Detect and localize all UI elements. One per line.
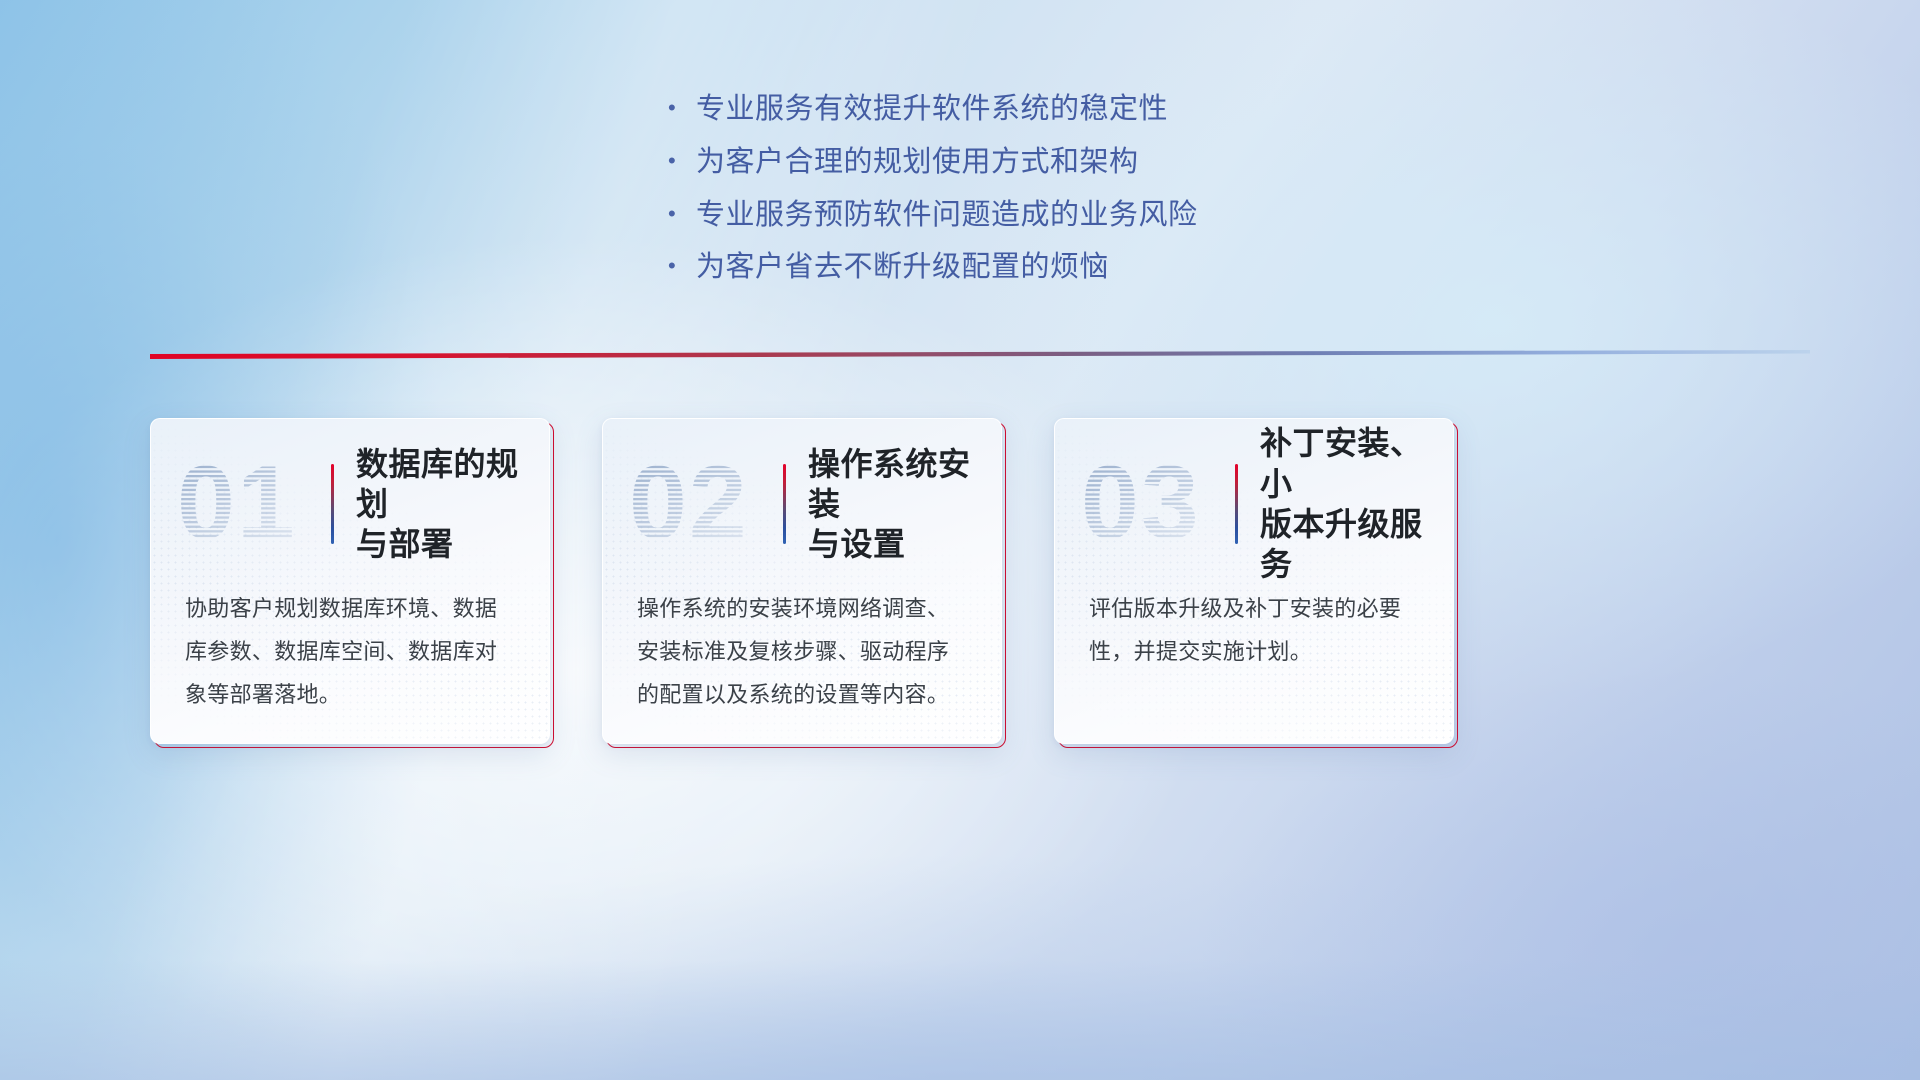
card-title-rule — [783, 464, 786, 544]
card-surface: 02 操作系统安装 与设置 操作系统的安装环境网络调查、安装标准及复核步骤、驱动… — [602, 418, 1002, 744]
bullet-dot-icon: • — [668, 203, 696, 225]
bullet-text: 专业服务预防软件问题造成的业务风险 — [696, 198, 1198, 233]
svg-text:03: 03 — [1081, 452, 1201, 556]
card-title-rule — [331, 464, 334, 544]
card-number-striped-icon: 03 — [1081, 452, 1231, 556]
svg-text:01: 01 — [177, 452, 297, 556]
bullet-text: 专业服务有效提升软件系统的稳定性 — [696, 92, 1168, 127]
card-body-text: 操作系统的安装环境网络调查、安装标准及复核步骤、驱动程序的配置以及系统的设置等内… — [637, 587, 971, 716]
card-surface: 01 数据库的规划 与部署 协助客户规划数据库环境、数据库参数、数据库空间、数据… — [150, 418, 550, 744]
card-header: 02 操作系统安装 与设置 — [603, 449, 1001, 559]
card-title-rule — [1235, 464, 1238, 544]
list-item: • 为客户省去不断升级配置的烦恼 — [668, 250, 1198, 285]
svg-text:02: 02 — [629, 452, 749, 556]
card-header: 01 数据库的规划 与部署 — [151, 449, 549, 559]
list-item: • 专业服务预防软件问题造成的业务风险 — [668, 198, 1198, 233]
list-item: • 为客户合理的规划使用方式和架构 — [668, 145, 1198, 180]
card-title: 操作系统安装 与设置 — [808, 444, 1001, 565]
bullet-text: 为客户合理的规划使用方式和架构 — [696, 145, 1139, 180]
bullet-dot-icon: • — [668, 97, 696, 119]
card-header: 03 补丁安装、小 版本升级服务 — [1055, 449, 1453, 559]
slide-stage: • 专业服务有效提升软件系统的稳定性 • 为客户合理的规划使用方式和架构 • 专… — [0, 0, 1920, 1080]
card-title: 数据库的规划 与部署 — [356, 444, 549, 565]
bullet-dot-icon: • — [668, 255, 696, 277]
card-number-striped-icon: 01 — [177, 452, 327, 556]
service-card[interactable]: 03 补丁安装、小 版本升级服务 评估版本升级及补丁安装的必要性，并提交实施计划… — [1054, 418, 1454, 744]
service-card-row: 01 数据库的规划 与部署 协助客户规划数据库环境、数据库参数、数据库空间、数据… — [150, 418, 1454, 744]
card-surface: 03 补丁安装、小 版本升级服务 评估版本升级及补丁安装的必要性，并提交实施计划… — [1054, 418, 1454, 744]
section-divider — [150, 340, 1810, 366]
card-number-striped-icon: 02 — [629, 452, 779, 556]
card-title: 补丁安装、小 版本升级服务 — [1260, 423, 1453, 584]
list-item: • 专业服务有效提升软件系统的稳定性 — [668, 92, 1198, 127]
benefits-bullet-list: • 专业服务有效提升软件系统的稳定性 • 为客户合理的规划使用方式和架构 • 专… — [668, 92, 1198, 285]
bullet-text: 为客户省去不断升级配置的烦恼 — [696, 250, 1109, 285]
service-card[interactable]: 02 操作系统安装 与设置 操作系统的安装环境网络调查、安装标准及复核步骤、驱动… — [602, 418, 1002, 744]
card-body-text: 评估版本升级及补丁安装的必要性，并提交实施计划。 — [1089, 587, 1423, 673]
card-body-text: 协助客户规划数据库环境、数据库参数、数据库空间、数据库对象等部署落地。 — [185, 587, 519, 716]
service-card[interactable]: 01 数据库的规划 与部署 协助客户规划数据库环境、数据库参数、数据库空间、数据… — [150, 418, 550, 744]
bullet-dot-icon: • — [668, 150, 696, 172]
